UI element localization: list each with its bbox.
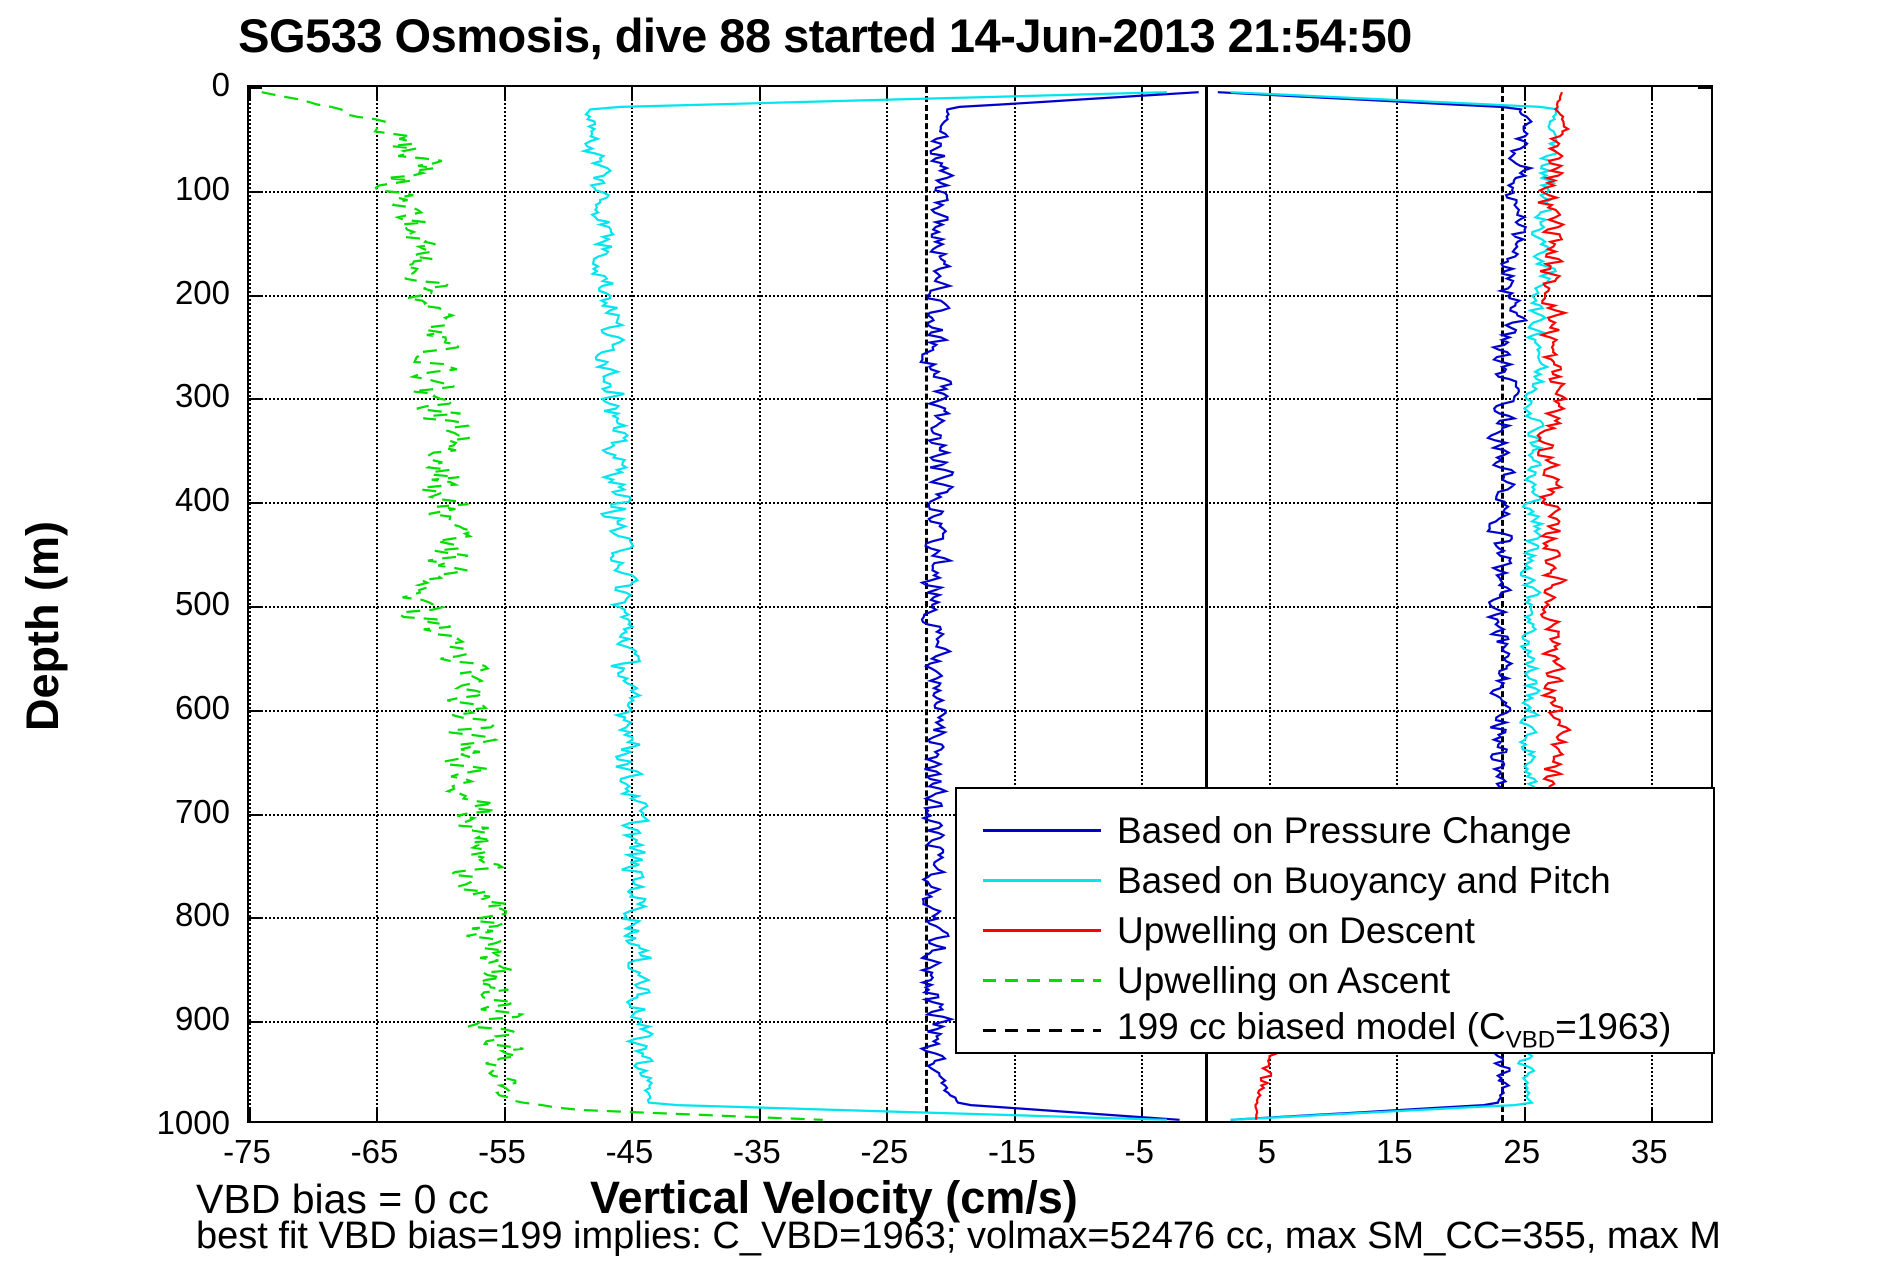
y-tick-label: 200 xyxy=(175,274,230,312)
legend-color-swatch xyxy=(983,929,1101,932)
legend-item[interactable]: Based on Buoyancy and Pitch xyxy=(957,855,1713,905)
x-tick-label: 25 xyxy=(1503,1133,1540,1171)
x-tick-label: -65 xyxy=(351,1133,399,1171)
y-tick-label: 600 xyxy=(175,689,230,727)
legend-item[interactable]: Upwelling on Ascent xyxy=(957,955,1713,1005)
legend-color-swatch xyxy=(983,829,1101,832)
legend-item-label: Upwelling on Descent xyxy=(1117,912,1475,949)
y-tick-label: 500 xyxy=(175,585,230,623)
y-tick-label: 0 xyxy=(212,66,230,104)
legend-item[interactable]: Upwelling on Descent xyxy=(957,905,1713,955)
data-series-line xyxy=(262,92,823,1120)
legend-color-swatch xyxy=(983,979,1101,982)
legend-item-label: 199 cc biased model (CVBD=1963) xyxy=(1117,1008,1671,1052)
y-axis-label: Depth (m) xyxy=(17,521,69,731)
footnote-annotation: best fit VBD bias=199 implies: C_VBD=196… xyxy=(196,1215,1721,1258)
x-tick-label: -45 xyxy=(606,1133,654,1171)
legend-item-label: Based on Buoyancy and Pitch xyxy=(1117,862,1611,899)
legend: Based on Pressure ChangeBased on Buoyanc… xyxy=(955,787,1715,1054)
x-tick-label: -15 xyxy=(988,1133,1036,1171)
legend-item[interactable]: 199 cc biased model (CVBD=1963) xyxy=(957,1005,1713,1055)
legend-color-swatch xyxy=(983,879,1101,882)
y-tick-label: 1000 xyxy=(157,1104,230,1142)
y-tick-label: 900 xyxy=(175,1000,230,1038)
x-tick-label: 15 xyxy=(1376,1133,1413,1171)
y-tick-label: 100 xyxy=(175,170,230,208)
page-title: SG533 Osmosis, dive 88 started 14-Jun-20… xyxy=(0,8,1650,63)
x-tick-label: -75 xyxy=(223,1133,271,1171)
y-tick-label: 400 xyxy=(175,481,230,519)
y-tick-label: 800 xyxy=(175,896,230,934)
y-tick-label: 700 xyxy=(175,793,230,831)
x-tick-label: -35 xyxy=(733,1133,781,1171)
x-tick-label: 35 xyxy=(1631,1133,1668,1171)
x-tick-label: 5 xyxy=(1258,1133,1276,1171)
legend-item-label: Based on Pressure Change xyxy=(1117,812,1572,849)
y-tick-label: 300 xyxy=(175,377,230,415)
legend-color-swatch xyxy=(983,1029,1101,1032)
legend-item-label: Upwelling on Ascent xyxy=(1117,962,1450,999)
x-tick-label: -5 xyxy=(1125,1133,1154,1171)
x-tick-label: -25 xyxy=(861,1133,909,1171)
legend-label-subscript: VBD xyxy=(1506,1026,1555,1053)
x-tick-label: -55 xyxy=(478,1133,526,1171)
legend-item[interactable]: Based on Pressure Change xyxy=(957,805,1713,855)
